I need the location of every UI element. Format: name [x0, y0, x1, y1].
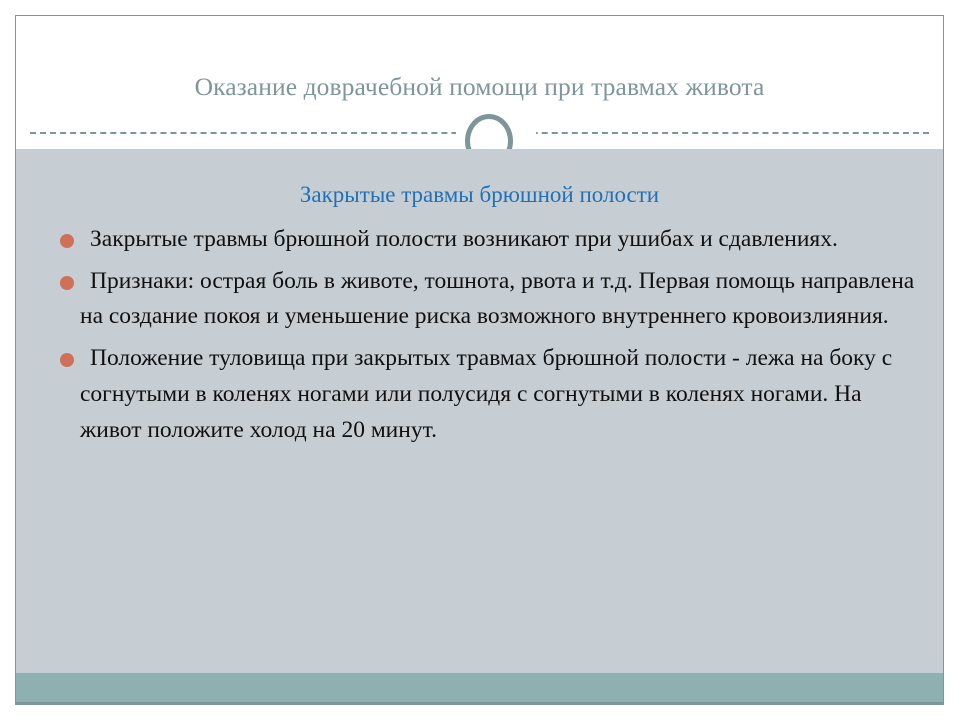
slide-content-band: Закрытые травмы брюшной полости Закрытые…: [16, 149, 943, 673]
footer-rule: [16, 702, 943, 704]
list-item: Признаки: острая боль в животе, тошнота,…: [44, 264, 925, 335]
bullet-dot-icon: [60, 276, 74, 290]
list-item-text: Признаки: острая боль в животе, тошнота,…: [80, 264, 925, 335]
bullet-list: Закрытые травмы брюшной полости возникаю…: [44, 222, 925, 454]
list-item: Положение туловища при закрытых травмах …: [44, 341, 925, 448]
presentation-slide: Оказание доврачебной помощи при травмах …: [15, 15, 944, 705]
footer-accent-bar: [16, 673, 943, 704]
page-title: Оказание доврачебной помощи при травмах …: [16, 72, 943, 101]
bullet-dot-icon: [60, 353, 74, 367]
section-subtitle: Закрытые травмы брюшной полости: [16, 181, 943, 209]
list-item-text: Закрытые травмы брюшной полости возникаю…: [80, 222, 925, 258]
list-item: Закрытые травмы брюшной полости возникаю…: [44, 222, 925, 258]
list-item-text: Положение туловища при закрытых травмах …: [80, 341, 925, 448]
bullet-dot-icon: [60, 234, 74, 248]
